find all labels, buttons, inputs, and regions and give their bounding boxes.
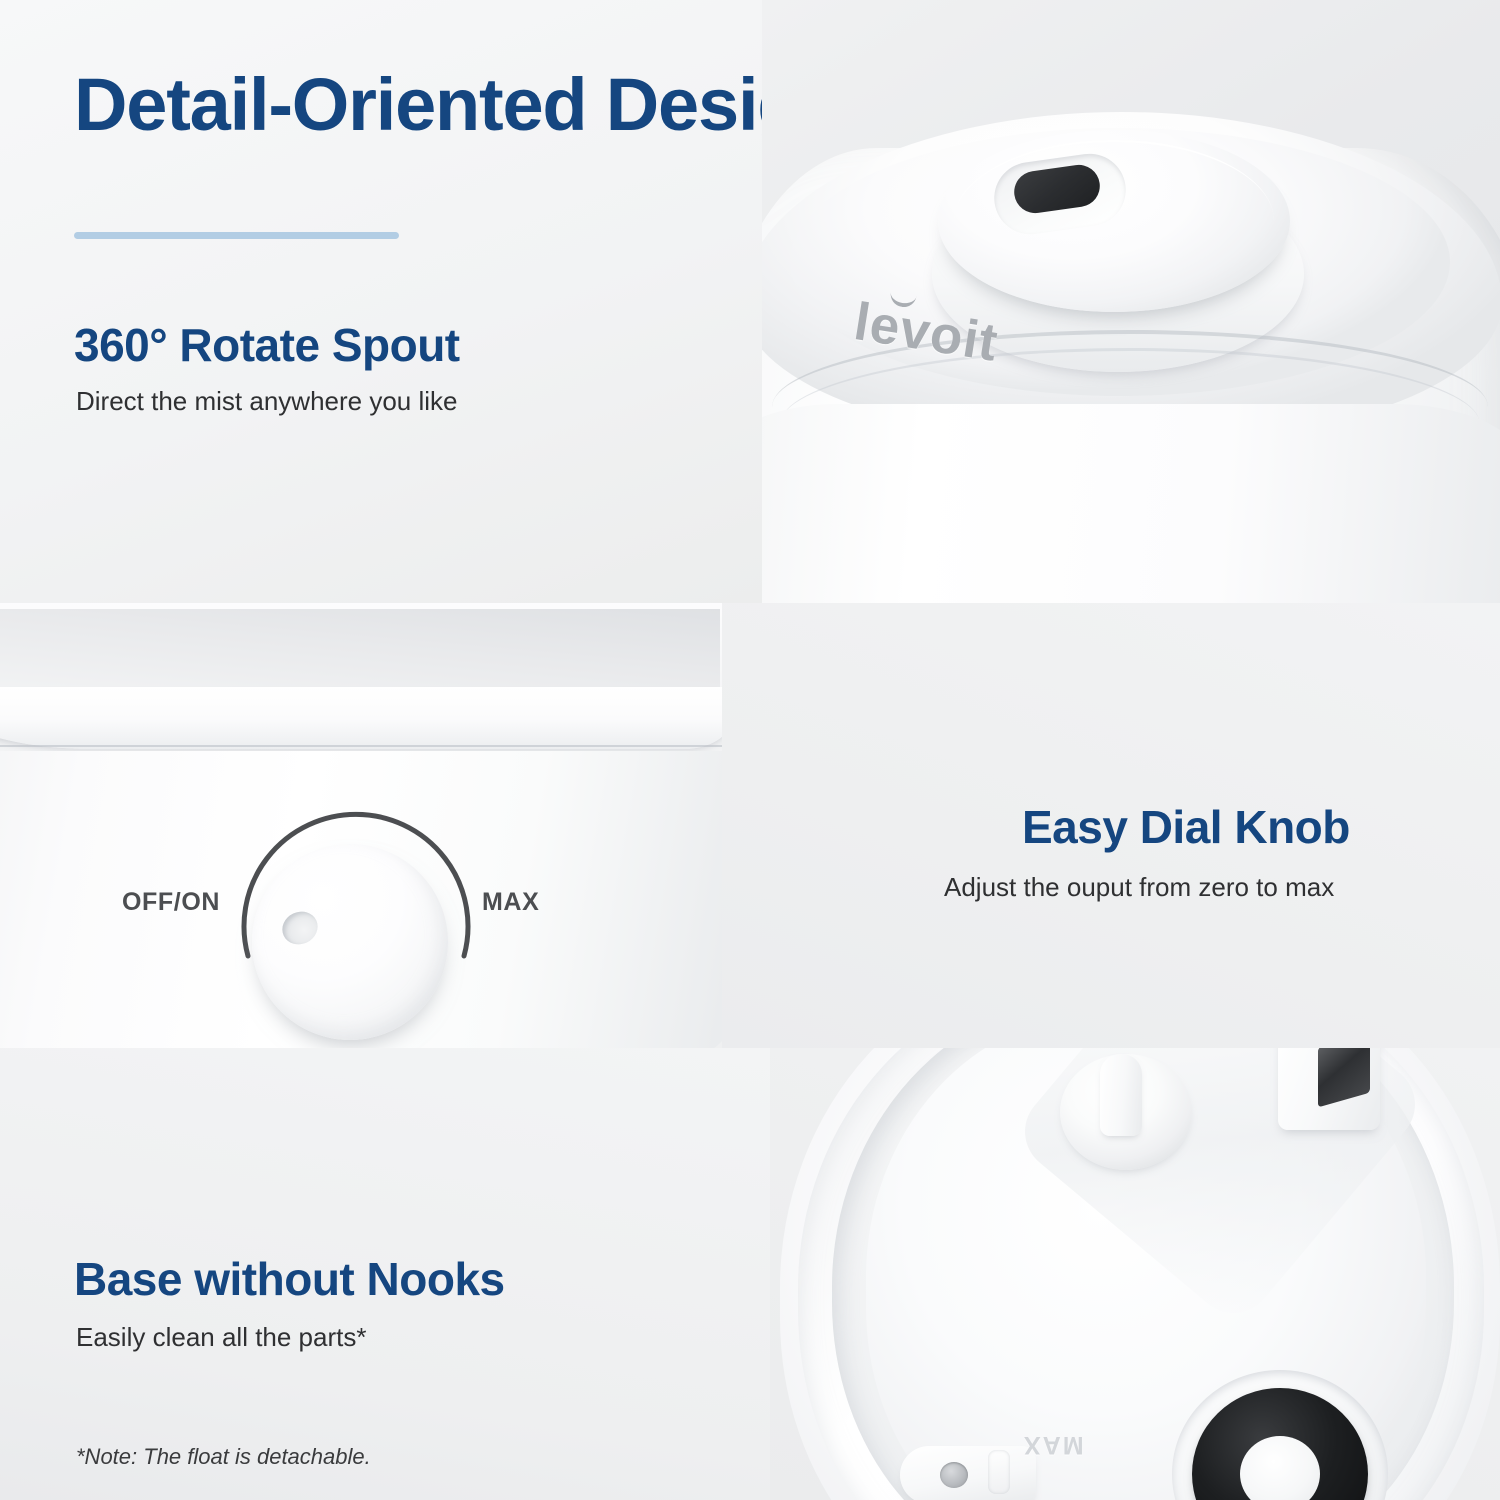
latch-release-tab[interactable] <box>988 1450 1010 1494</box>
footnote-text: *Note: The float is detachable. <box>76 1444 371 1470</box>
base-text-panel: Base without Nooks Easily clean all the … <box>0 1048 770 1500</box>
dial-knob[interactable] <box>252 844 448 1040</box>
embossed-max-marking: MAX <box>1022 1430 1084 1459</box>
latch-screw-icon <box>940 1462 968 1488</box>
feature-subheading-dial-knob: Adjust the ouput from zero to max <box>944 872 1334 903</box>
page-title: Detail-Oriented Designs <box>74 62 762 147</box>
dial-label-off-on: OFF/ON <box>122 888 220 917</box>
title-panel: Detail-Oriented Designs 360° Rotate Spou… <box>0 0 762 603</box>
tank-lip <box>0 687 722 749</box>
feature-heading-dial-knob: Easy Dial Knob <box>1022 800 1350 854</box>
humidifier-lower-body <box>762 404 1500 603</box>
feature-heading-base-nooks: Base without Nooks <box>74 1252 505 1306</box>
float-latch-bracket <box>900 1446 1036 1500</box>
rotating-spout-cap <box>938 130 1290 312</box>
float-post <box>1100 1054 1142 1136</box>
feature-subheading-base-nooks: Easily clean all the parts* <box>76 1322 366 1353</box>
dial-knob-text-panel: Easy Dial Knob Adjust the ouput from zer… <box>722 603 1500 1048</box>
title-divider-rule <box>74 232 399 239</box>
product-photo-base-interior: MAX <box>770 1048 1500 1500</box>
product-photo-rotate-spout: levoit <box>762 0 1500 603</box>
dial-label-max: MAX <box>482 888 539 917</box>
feature-subheading-rotate-spout: Direct the mist anywhere you like <box>76 386 457 417</box>
feature-heading-rotate-spout: 360° Rotate Spout <box>74 318 460 372</box>
infographic-page: Detail-Oriented Designs 360° Rotate Spou… <box>0 0 1500 1500</box>
